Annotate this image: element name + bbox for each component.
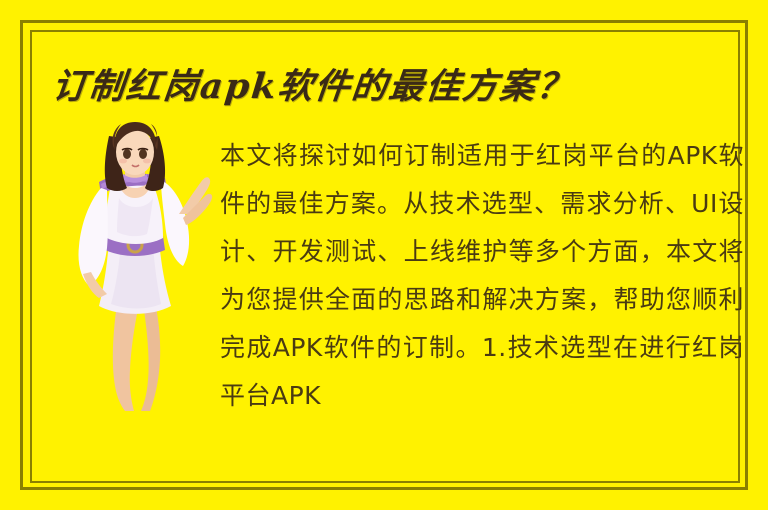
character-illustration-svg xyxy=(55,118,215,418)
article-title: 订制红岗apk软件的最佳方案？ xyxy=(49,62,695,116)
character-illustration xyxy=(55,118,215,418)
poster-canvas: 订制红岗apk软件的最佳方案？ 本文将探讨如何订制适用于红岗平台的APK软件的最… xyxy=(0,0,768,510)
article-body: 本文将探讨如何订制适用于红岗平台的APK软件的最佳方案。从技术选型、需求分析、U… xyxy=(220,132,744,420)
